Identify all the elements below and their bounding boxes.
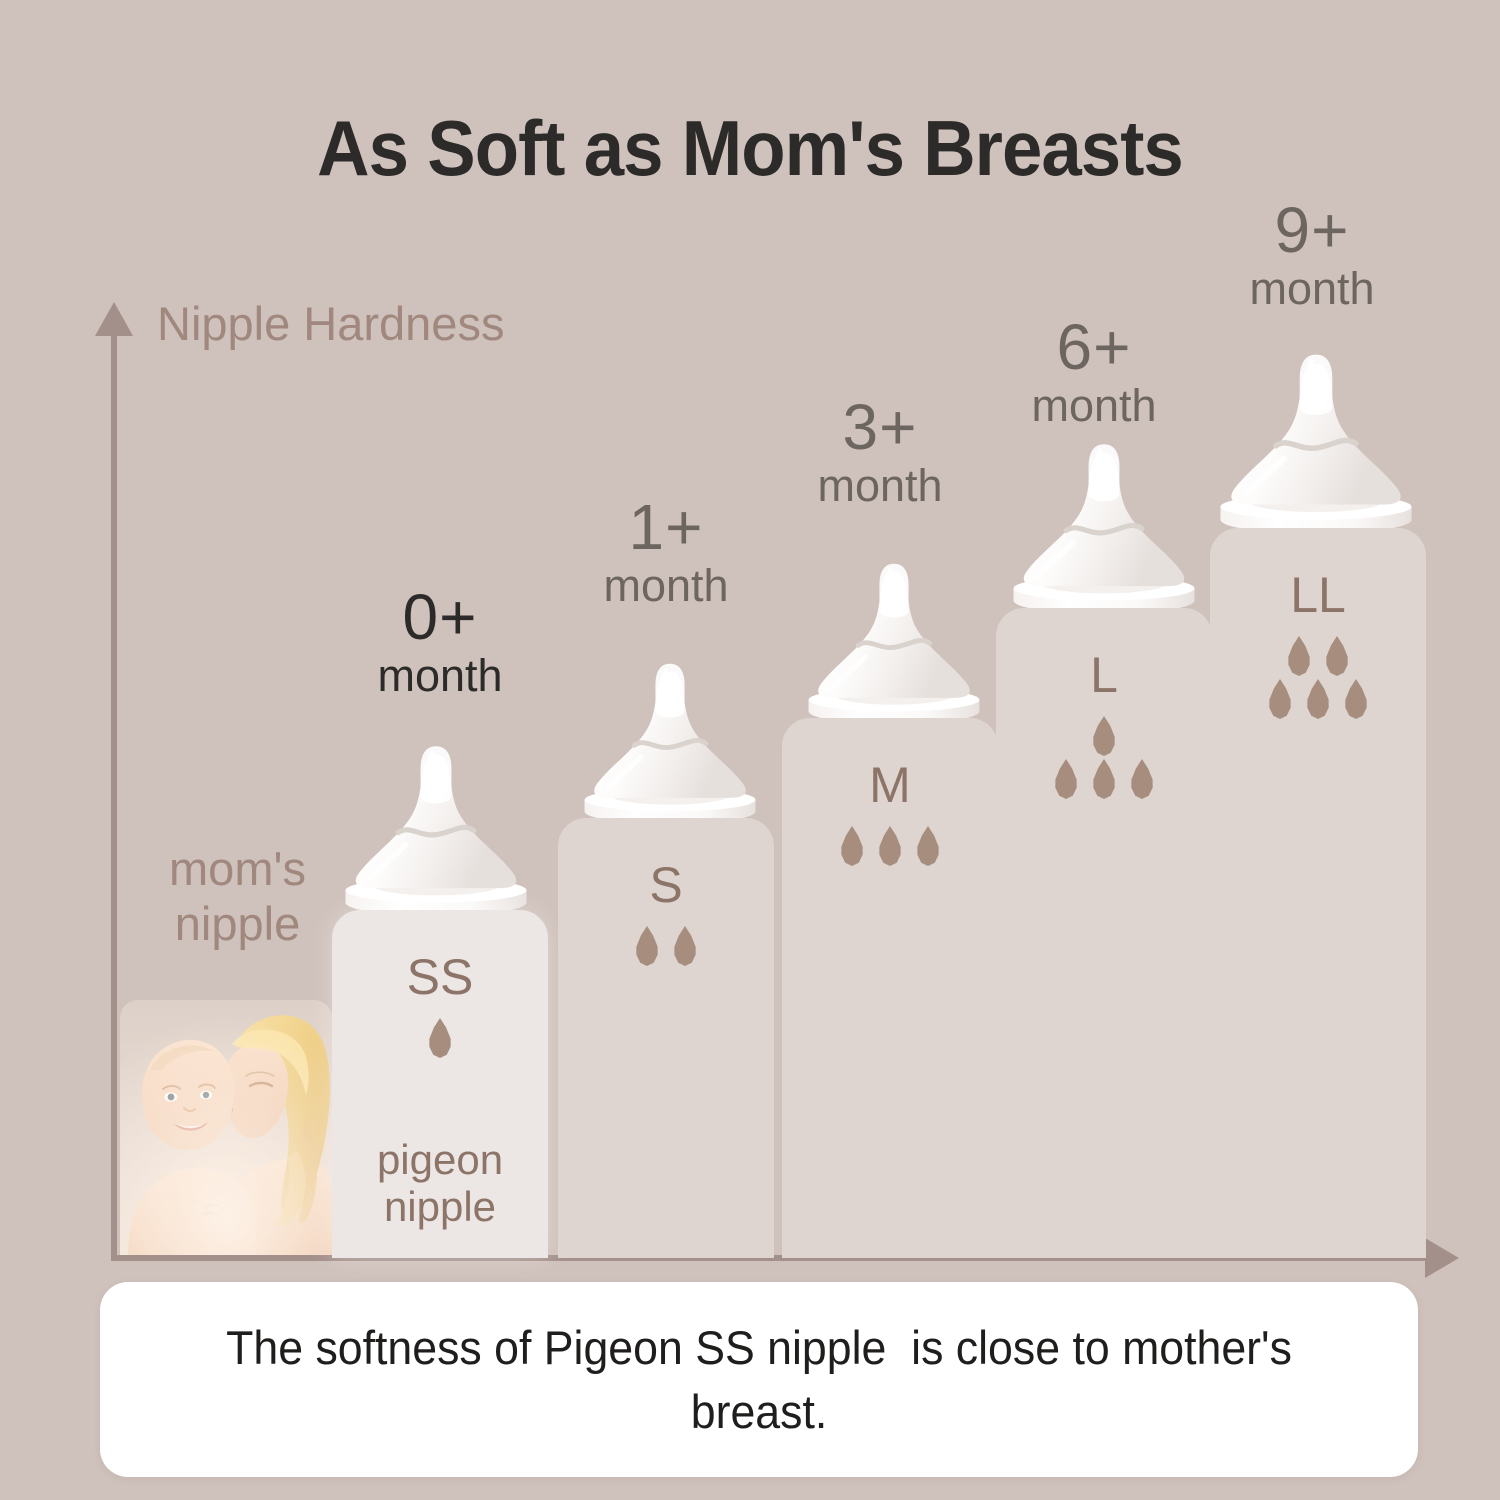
flow-size-tag-ss: SS: [332, 948, 548, 1006]
page-title: As Soft as Mom's Breasts: [53, 103, 1448, 194]
water-drop-icon: [1052, 759, 1080, 799]
water-drop-icon: [1128, 759, 1156, 799]
water-drop-icon: [876, 826, 904, 866]
water-drop-icon: [426, 1018, 454, 1058]
flow-size-tag-ll: LL: [1210, 566, 1426, 624]
age-label-l: 6+month: [986, 315, 1202, 428]
water-drop-icon: [1304, 679, 1332, 719]
age-label-value: 3+: [772, 395, 988, 459]
nipple-teat-icon-ll: [1205, 346, 1427, 536]
flow-drops-l: [996, 716, 1212, 802]
water-drop-icon: [1266, 679, 1294, 719]
moms-nipple-label-line2: nipple: [175, 897, 300, 950]
bar-m[interactable]: M: [782, 718, 998, 1258]
x-axis-arrow-icon: [1425, 1238, 1459, 1278]
caption-text: The softness of Pigeon SS nipple is clos…: [133, 1316, 1385, 1443]
water-drop-icon: [1323, 636, 1351, 676]
mother-baby-photo: [120, 1000, 332, 1255]
bar-ss[interactable]: SSpigeonnipple: [332, 910, 548, 1258]
nipple-teat-icon-ss: [332, 738, 540, 918]
age-label-unit: month: [332, 653, 548, 698]
water-drop-icon: [671, 926, 699, 966]
nipple-teat-icon-l: [999, 436, 1209, 616]
nipple-teat-icon-s: [572, 656, 768, 826]
y-axis-arrow-icon: [95, 302, 133, 336]
moms-nipple-label-line1: mom's: [169, 842, 306, 895]
moms-nipple-label: mom's nipple: [130, 842, 345, 951]
flow-drops-ll: [1210, 636, 1426, 722]
water-drop-icon: [914, 826, 942, 866]
infographic-canvas: As Soft as Mom's Breasts Nipple Hardness…: [0, 0, 1500, 1500]
pigeon-nipple-caption-line2: nipple: [384, 1183, 496, 1230]
age-label-value: 0+: [332, 585, 548, 649]
caption-card: The softness of Pigeon SS nipple is clos…: [100, 1282, 1418, 1477]
age-label-unit: month: [1204, 266, 1420, 311]
water-drop-icon: [838, 826, 866, 866]
pigeon-nipple-caption-line1: pigeon: [377, 1136, 503, 1183]
age-label-unit: month: [986, 383, 1202, 428]
bar-ll[interactable]: LL: [1210, 528, 1426, 1258]
flow-size-tag-s: S: [558, 856, 774, 914]
water-drop-icon: [1090, 759, 1118, 799]
pigeon-nipple-caption: pigeonnipple: [332, 1136, 548, 1230]
water-drop-icon: [1090, 716, 1118, 756]
flow-drops-ss: [332, 1018, 548, 1061]
bar-l[interactable]: L: [996, 608, 1212, 1258]
y-axis-line: [111, 330, 117, 1260]
water-drop-icon: [1342, 679, 1370, 719]
flow-drops-s: [558, 926, 774, 969]
age-label-value: 1+: [558, 495, 774, 559]
age-label-m: 3+month: [772, 395, 988, 508]
age-label-ss: 0+month: [332, 585, 548, 698]
water-drop-icon: [1285, 636, 1313, 676]
flow-size-tag-m: M: [782, 756, 998, 814]
y-axis-label: Nipple Hardness: [157, 296, 504, 351]
age-label-value: 6+: [986, 315, 1202, 379]
flow-size-tag-l: L: [996, 646, 1212, 704]
age-label-ll: 9+month: [1204, 198, 1420, 311]
nipple-teat-icon-m: [796, 556, 992, 726]
flow-drops-m: [782, 826, 998, 869]
bar-s[interactable]: S: [558, 818, 774, 1258]
age-label-unit: month: [558, 563, 774, 608]
age-label-value: 9+: [1204, 198, 1420, 262]
age-label-unit: month: [772, 463, 988, 508]
water-drop-icon: [633, 926, 661, 966]
age-label-s: 1+month: [558, 495, 774, 608]
